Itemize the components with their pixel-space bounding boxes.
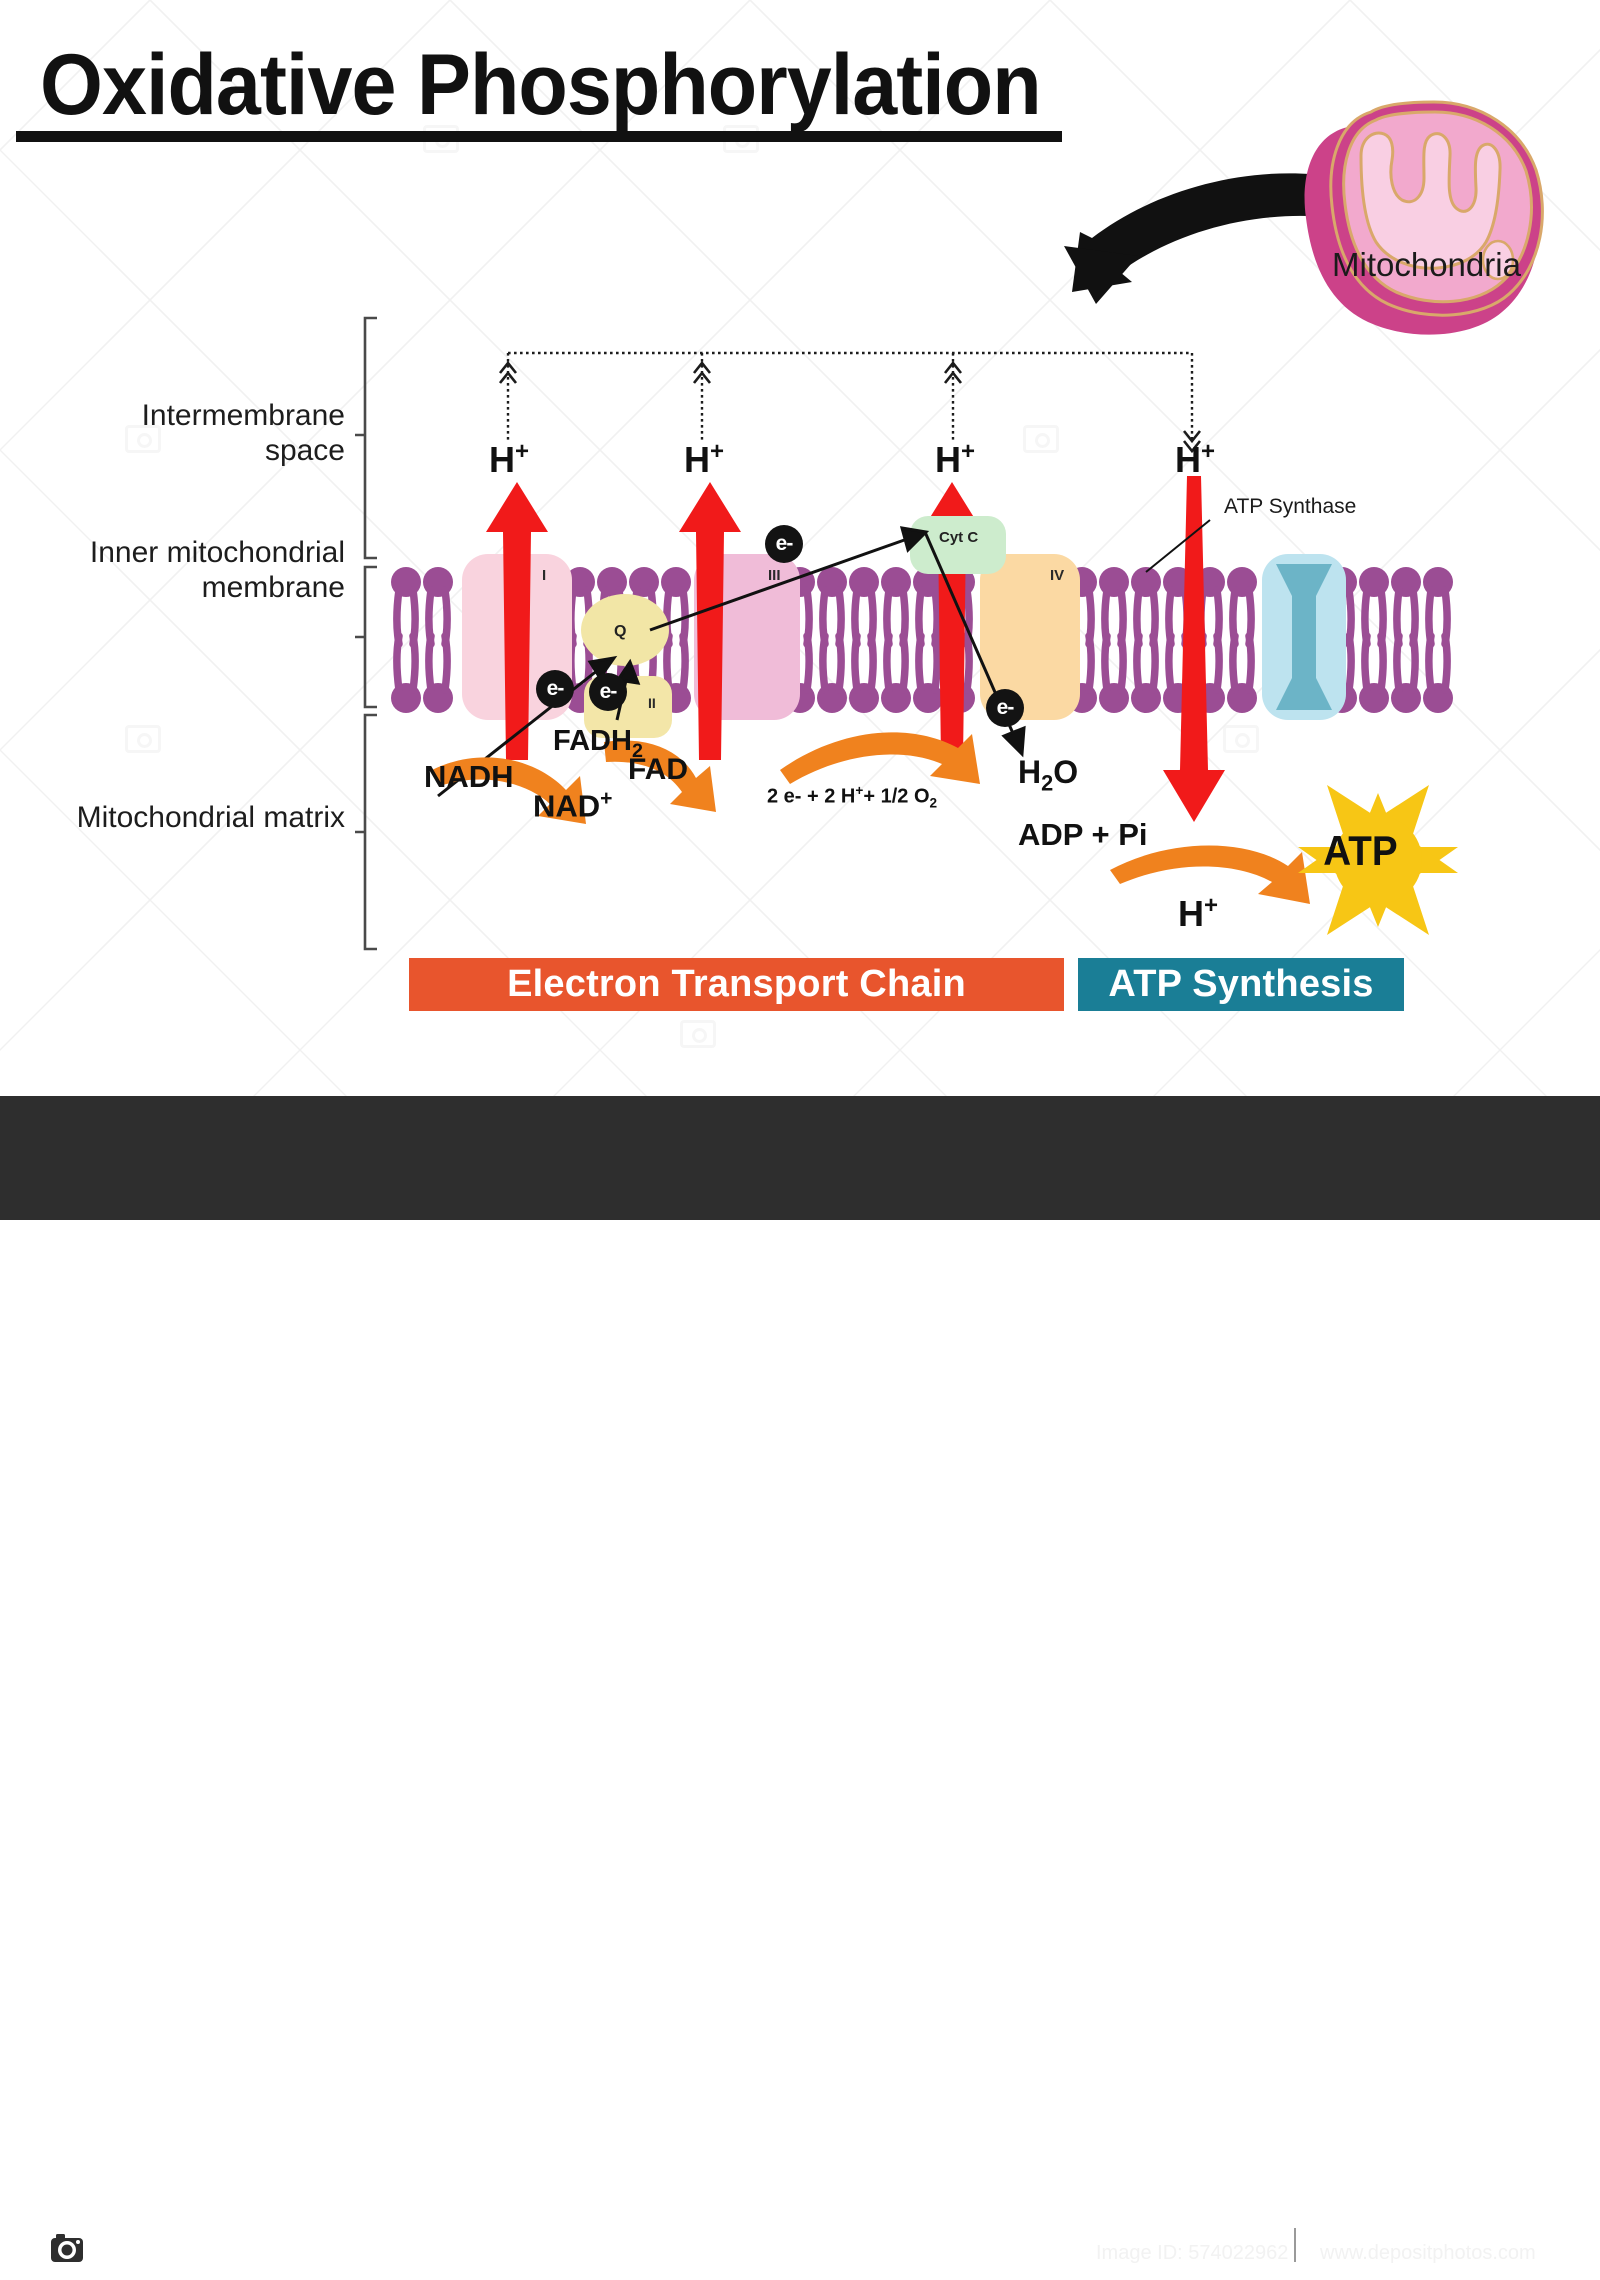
title-underline <box>16 131 1062 142</box>
label-intermembrane-space: Intermembrane space <box>60 398 345 469</box>
label-inner-mitochondrial-membrane: Inner mitochondrial membrane <box>60 535 345 606</box>
depositphotos-camera-logo-icon <box>42 2218 92 2280</box>
footer-url[interactable]: www.depositphotos.com <box>1320 2242 1536 2265</box>
complex-2-roman: II <box>648 695 656 711</box>
complex-3-roman: III <box>768 567 781 584</box>
footer-brand: depositphotos <box>96 2228 349 2272</box>
label-nad-plus: NAD+ <box>533 787 612 824</box>
electron-bubble-nadh: e- <box>536 670 574 708</box>
ubiquinone-Q-label: Q <box>614 623 626 640</box>
label-nadh: NADH <box>424 759 514 795</box>
label-atp-synthase: ATP Synthase <box>1224 495 1356 519</box>
label-adp-pi: ADP + Pi <box>1018 817 1148 853</box>
label-fad: FAD <box>628 753 688 787</box>
mitochondria-label: Mitochondria <box>1332 246 1521 284</box>
footer-divider <box>1294 2228 1296 2262</box>
complex-1-roman: I <box>542 567 546 584</box>
banner-atp-synthesis: ATP Synthesis <box>1078 958 1404 1011</box>
diagram-canvas: Oxidative Phosphorylation Mitochondria <box>0 0 1600 1220</box>
electron-bubble-cytc: e- <box>765 525 803 563</box>
watermark-camera-icon <box>680 1020 716 1048</box>
arrow-adp-to-atp <box>1110 845 1310 904</box>
label-mitochondrial-matrix: Mitochondrial matrix <box>60 800 345 835</box>
label-water: H2O <box>1018 754 1078 796</box>
page-title: Oxidative Phosphorylation <box>40 36 1041 135</box>
mitochondrion-shape <box>1305 102 1543 335</box>
footer-bar: depositphotos Image ID: 574022962 www.de… <box>0 1096 1600 1220</box>
label-atp: ATP <box>1323 827 1397 875</box>
footer-image-id: Image ID: 574022962 <box>1096 2242 1288 2265</box>
label-oxygen-equation: 2 e- + 2 H++ 1/2 O2 <box>767 783 937 811</box>
complex-4-roman: IV <box>1050 567 1064 584</box>
electron-bubble-complex4: e- <box>986 689 1024 727</box>
proton-circuit-dotted <box>470 335 1230 475</box>
cytochrome-c-label: Cyt C <box>939 529 978 546</box>
banner-electron-transport-chain: Electron Transport Chain <box>409 958 1064 1011</box>
electron-bubble-fadh2: e- <box>589 673 627 711</box>
watermark-camera-icon <box>125 725 161 753</box>
